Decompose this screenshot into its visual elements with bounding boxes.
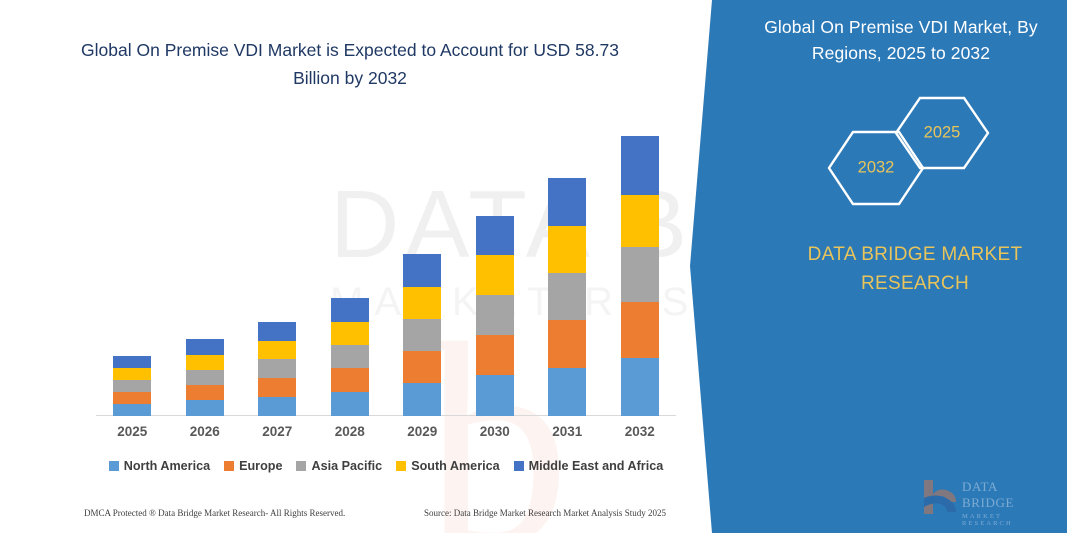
bar-segment-middle-east-and-africa <box>403 254 441 287</box>
legend-item-asia-pacific[interactable]: Asia Pacific <box>296 459 382 473</box>
logo-mark-icon <box>920 476 960 516</box>
bar-segment-middle-east-and-africa <box>621 136 659 195</box>
bar-segment-north-america <box>331 392 369 416</box>
bar-segment-north-america <box>258 397 296 416</box>
legend-item-north-america[interactable]: North America <box>109 459 210 473</box>
bar-segment-europe <box>258 378 296 397</box>
chart-title: Global On Premise VDI Market is Expected… <box>72 36 628 92</box>
legend-label: Middle East and Africa <box>529 459 664 473</box>
bar-segment-asia-pacific <box>331 345 369 368</box>
bar-segment-south-america <box>476 255 514 295</box>
bar-segment-south-america <box>331 322 369 345</box>
bar-segment-middle-east-and-africa <box>258 322 296 341</box>
bar-segment-asia-pacific <box>403 319 441 351</box>
chart-legend: North AmericaEuropeAsia PacificSouth Ame… <box>96 456 676 476</box>
bar-segment-south-america <box>548 226 586 273</box>
bar-segment-middle-east-and-africa <box>113 356 151 368</box>
bar-segment-middle-east-and-africa <box>548 178 586 226</box>
bar-2031 <box>548 178 586 416</box>
x-label-2025: 2025 <box>102 424 162 439</box>
bar-segment-north-america <box>403 383 441 416</box>
footer-copyright: DMCA Protected ® Data Bridge Market Rese… <box>84 508 345 518</box>
legend-label: Europe <box>239 459 282 473</box>
bar-2032 <box>621 136 659 416</box>
bar-segment-europe <box>403 351 441 383</box>
bar-segment-south-america <box>403 287 441 319</box>
bar-segment-asia-pacific <box>113 380 151 392</box>
x-label-2030: 2030 <box>465 424 525 439</box>
bar-segment-europe <box>621 302 659 358</box>
legend-swatch-icon <box>224 461 234 471</box>
bar-2028 <box>331 298 369 416</box>
x-label-2026: 2026 <box>175 424 235 439</box>
x-axis-labels: 20252026202720282029203020312032 <box>96 424 676 446</box>
bar-segment-north-america <box>186 400 224 416</box>
x-label-2029: 2029 <box>392 424 452 439</box>
bar-segment-europe <box>548 320 586 368</box>
legend-item-middle-east-and-africa[interactable]: Middle East and Africa <box>514 459 664 473</box>
x-label-2028: 2028 <box>320 424 380 439</box>
brand-name: DATA BRIDGE MARKET RESEARCH <box>790 240 1040 298</box>
bar-2026 <box>186 339 224 416</box>
bar-segment-south-america <box>186 355 224 370</box>
bar-2025 <box>113 356 151 416</box>
x-label-2031: 2031 <box>537 424 597 439</box>
bar-segment-north-america <box>621 358 659 416</box>
data-bridge-logo: DATA BRIDGE MARKET RESEARCH <box>920 476 1050 518</box>
footer: DMCA Protected ® Data Bridge Market Rese… <box>84 508 676 524</box>
hexagon-2025-label: 2025 <box>894 124 990 143</box>
bar-segment-south-america <box>113 368 151 380</box>
legend-label: Asia Pacific <box>311 459 382 473</box>
bar-2027 <box>258 322 296 416</box>
logo-text-line1: DATA BRIDGE <box>962 479 1050 511</box>
bar-segment-middle-east-and-africa <box>476 216 514 255</box>
bar-2030 <box>476 216 514 416</box>
legend-swatch-icon <box>514 461 524 471</box>
legend-swatch-icon <box>109 461 119 471</box>
bar-2029 <box>403 254 441 416</box>
legend-item-south-america[interactable]: South America <box>396 459 499 473</box>
bar-segment-middle-east-and-africa <box>186 339 224 355</box>
footer-source: Source: Data Bridge Market Research Mark… <box>424 508 666 518</box>
bar-segment-north-america <box>476 375 514 416</box>
bar-segment-north-america <box>113 404 151 416</box>
legend-label: South America <box>411 459 499 473</box>
legend-swatch-icon <box>296 461 306 471</box>
bar-segment-south-america <box>258 341 296 359</box>
bar-segment-europe <box>186 385 224 400</box>
legend-label: North America <box>124 459 210 473</box>
bar-segment-middle-east-and-africa <box>331 298 369 322</box>
hexagon-2025: 2025 <box>894 96 990 170</box>
bar-segment-south-america <box>621 195 659 247</box>
legend-swatch-icon <box>396 461 406 471</box>
bar-segment-europe <box>113 392 151 404</box>
bar-segment-north-america <box>548 368 586 416</box>
bar-segment-europe <box>331 368 369 392</box>
infographic-root: b DATA BRIDGE MARKET RESEARCH Global On … <box>0 0 1067 533</box>
logo-text: DATA BRIDGE MARKET RESEARCH <box>962 479 1050 527</box>
legend-item-europe[interactable]: Europe <box>224 459 282 473</box>
logo-text-line2: MARKET RESEARCH <box>962 513 1050 527</box>
stacked-bar-plot <box>96 120 676 416</box>
x-label-2032: 2032 <box>610 424 670 439</box>
bar-segment-asia-pacific <box>621 247 659 302</box>
bar-segment-asia-pacific <box>258 359 296 378</box>
x-label-2027: 2027 <box>247 424 307 439</box>
right-panel-title: Global On Premise VDI Market, By Regions… <box>745 14 1057 66</box>
hexagon-group: 2032 2025 <box>826 96 996 206</box>
bar-segment-asia-pacific <box>476 295 514 335</box>
bar-segment-asia-pacific <box>186 370 224 385</box>
bar-segment-europe <box>476 335 514 375</box>
bar-segment-asia-pacific <box>548 273 586 320</box>
